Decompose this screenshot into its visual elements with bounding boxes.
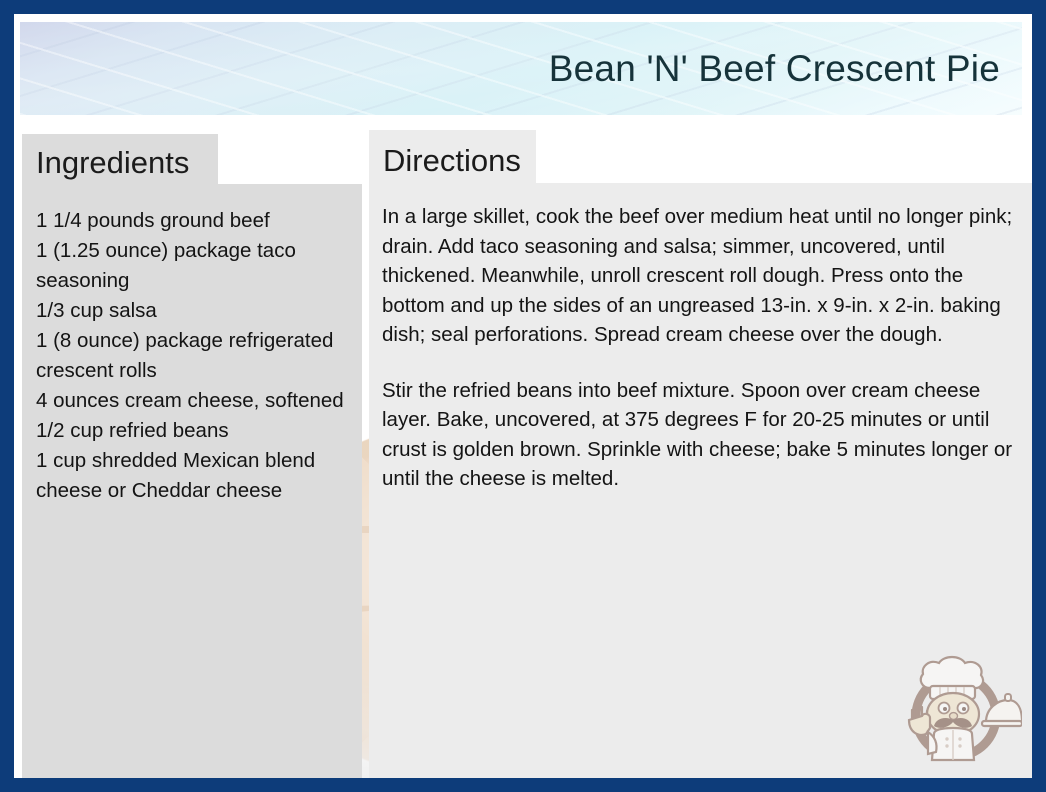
- directions-paragraph: In a large skillet, cook the beef over m…: [382, 202, 1027, 350]
- ingredients-heading-tab: Ingredients: [36, 140, 189, 184]
- ingredient-item: 1 (8 ounce) package refrigerated crescen…: [36, 326, 358, 386]
- directions-paragraph: Stir the refried beans into beef mixture…: [382, 376, 1027, 494]
- header-banner: Bean 'N' Beef Crescent Pie: [20, 22, 1022, 115]
- directions-heading-tab: Directions: [383, 138, 521, 182]
- ingredients-list: 1 1/4 pounds ground beef 1 (1.25 ounce) …: [36, 206, 358, 506]
- directions-heading-notch: [536, 130, 1032, 183]
- ingredient-item: 1 (1.25 ounce) package taco seasoning: [36, 236, 358, 296]
- ingredients-panel: Ingredients 1 1/4 pounds ground beef 1 (…: [22, 134, 362, 778]
- ingredient-item: 1 1/4 pounds ground beef: [36, 206, 358, 236]
- directions-body: In a large skillet, cook the beef over m…: [382, 202, 1027, 494]
- ingredient-item: 4 ounces cream cheese, softened: [36, 386, 358, 416]
- ingredient-item: 1 cup shredded Mexican blend cheese or C…: [36, 446, 358, 506]
- recipe-card: Bean 'N' Beef Crescent Pie: [0, 0, 1046, 792]
- ingredient-item: 1/3 cup salsa: [36, 296, 358, 326]
- ingredients-heading-notch: [218, 134, 364, 184]
- chef-mascot-logo: [894, 644, 1022, 764]
- ingredients-heading: Ingredients: [36, 146, 189, 180]
- recipe-title: Bean 'N' Beef Crescent Pie: [549, 48, 1000, 90]
- recipe-card-inner: Bean 'N' Beef Crescent Pie: [14, 14, 1032, 778]
- ingredient-item: 1/2 cup refried beans: [36, 416, 358, 446]
- directions-heading: Directions: [383, 144, 521, 178]
